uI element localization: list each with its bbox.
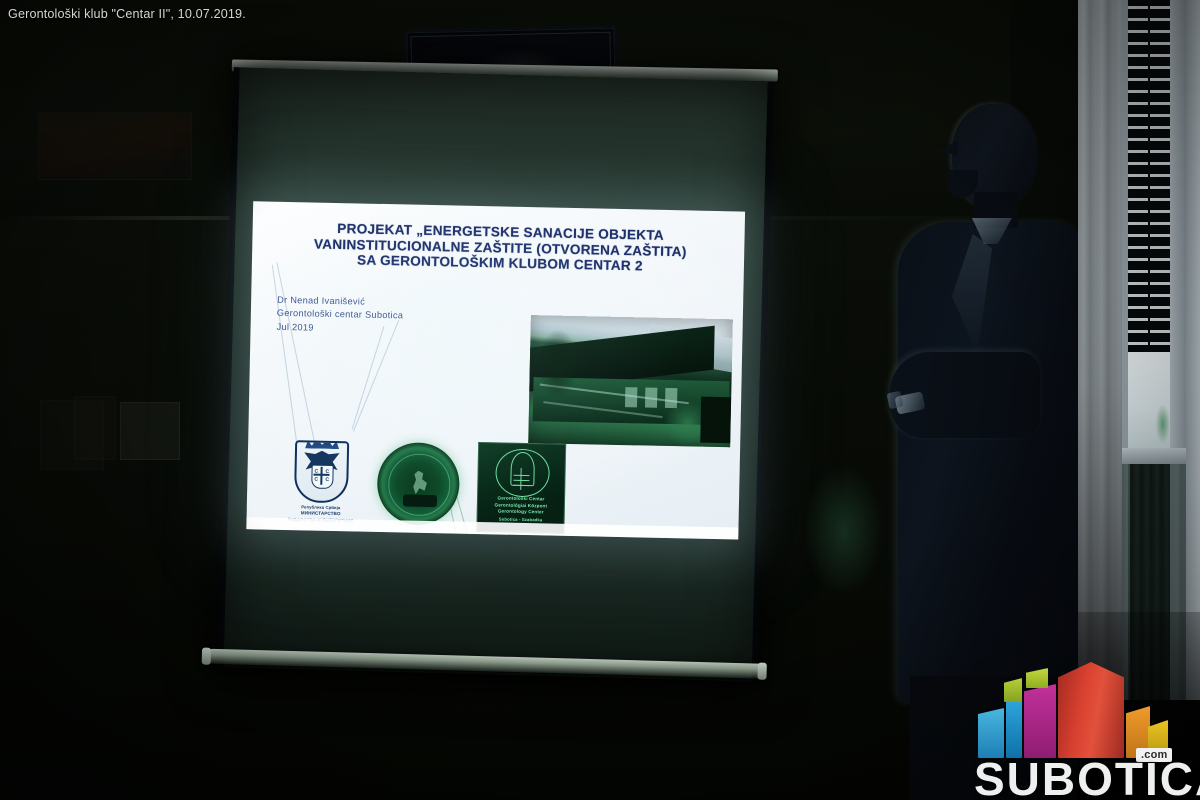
outside-greenery — [1152, 388, 1170, 448]
watermark-block-cyan — [1006, 696, 1022, 758]
seal-inner-ring — [388, 453, 451, 516]
window-sill — [1122, 448, 1186, 464]
serbia-coat-of-arms-icon: С С С С — [294, 440, 349, 503]
gc-text-block: Gerontološki Centar Gerontológiai Közpon… — [478, 495, 565, 525]
watermark-block-lime — [1026, 668, 1048, 688]
slide-decoration-line — [276, 262, 316, 450]
blind-center-cord — [1148, 0, 1150, 352]
slide-date: Jul 2019 — [276, 321, 403, 337]
wall-poster-left-c — [120, 402, 180, 460]
seal-base — [403, 494, 437, 507]
presenter-nose — [940, 140, 958, 156]
photo-scene: PROJEKAT „ENERGETSKE SANACIJE OBJEKTA VA… — [0, 0, 1200, 800]
slide-decoration-line — [353, 320, 399, 431]
photo-caption: Gerontološki klub "Centar II", 10.07.201… — [8, 7, 246, 21]
slide-decoration-line — [352, 326, 385, 429]
watermark-block-blue — [978, 708, 1004, 758]
watermark-brand-text: SUBOTICA — [974, 756, 1200, 800]
shield-letter: С — [314, 477, 318, 483]
blind-slat-group — [1128, 0, 1170, 352]
wristwatch-icon — [886, 391, 903, 410]
window-with-horizontal-blinds — [1078, 0, 1200, 700]
watermark-block-olive — [1004, 678, 1022, 702]
slide-decoration-line — [272, 265, 297, 443]
watermark-block-red — [1058, 662, 1124, 758]
shield-letter: С — [314, 469, 318, 475]
serbian-ministry-logo: С С С С Република Србија МИНИСТАРСТВО РУ… — [280, 440, 362, 526]
slide-building-photo — [528, 315, 733, 447]
presenter-torso — [898, 222, 1082, 702]
slide-title: PROJEKAT „ENERGETSKE SANACIJE OBJEKTA VA… — [280, 220, 721, 276]
gc-line-3: Gerontology Center — [478, 508, 564, 516]
window-frame-right — [1186, 0, 1200, 700]
screen-bar-knob-left — [202, 648, 211, 665]
shield-letter: С — [325, 469, 329, 475]
wall-poster-left-top — [38, 112, 192, 180]
photo-tree — [529, 315, 587, 412]
shield-letter: С — [325, 477, 329, 483]
slide-author-block: Dr Nenad Ivanišević Gerontološki centar … — [276, 294, 403, 337]
watermark-block-magenta — [1024, 684, 1056, 758]
tripod-projection-screen: PROJEKAT „ENERGETSKE SANACIJE OBJEKTA VA… — [179, 56, 775, 687]
projected-slide: PROJEKAT „ENERGETSKE SANACIJE OBJEKTA VA… — [246, 201, 745, 539]
subotica-city-seal — [376, 442, 460, 526]
wall-poster-left-b — [74, 396, 116, 460]
screen-bar-knob-right — [757, 663, 766, 680]
subotica-watermark[interactable]: .com SUBOTICA — [968, 664, 1200, 800]
window-open-pane — [1128, 352, 1170, 448]
watermark-building-blocks — [968, 662, 1200, 758]
photo-dark-panel — [700, 397, 731, 444]
gerontology-center-logo: Gerontološki Centar Gerontológiai Közpon… — [476, 442, 566, 534]
crown-icon — [305, 440, 339, 449]
